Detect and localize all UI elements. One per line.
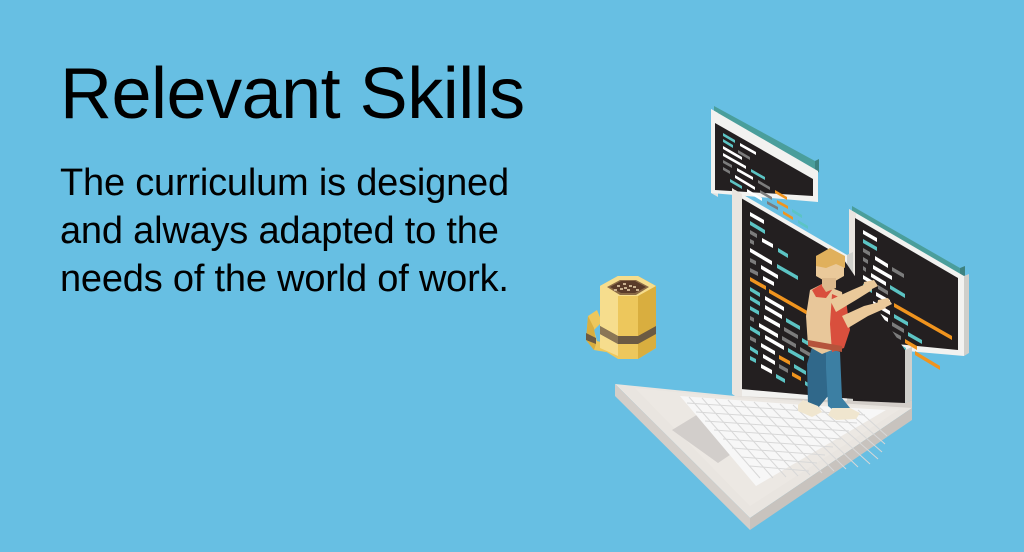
slide-canvas: Relevant Skills The curriculum is design… — [0, 0, 1024, 552]
coffee-mug — [586, 276, 656, 359]
isometric-developer-illustration — [560, 78, 1024, 552]
page-title: Relevant Skills — [60, 56, 600, 132]
body-paragraph: The curriculum is designed and always ad… — [60, 132, 580, 304]
text-block: Relevant Skills The curriculum is design… — [60, 56, 600, 304]
